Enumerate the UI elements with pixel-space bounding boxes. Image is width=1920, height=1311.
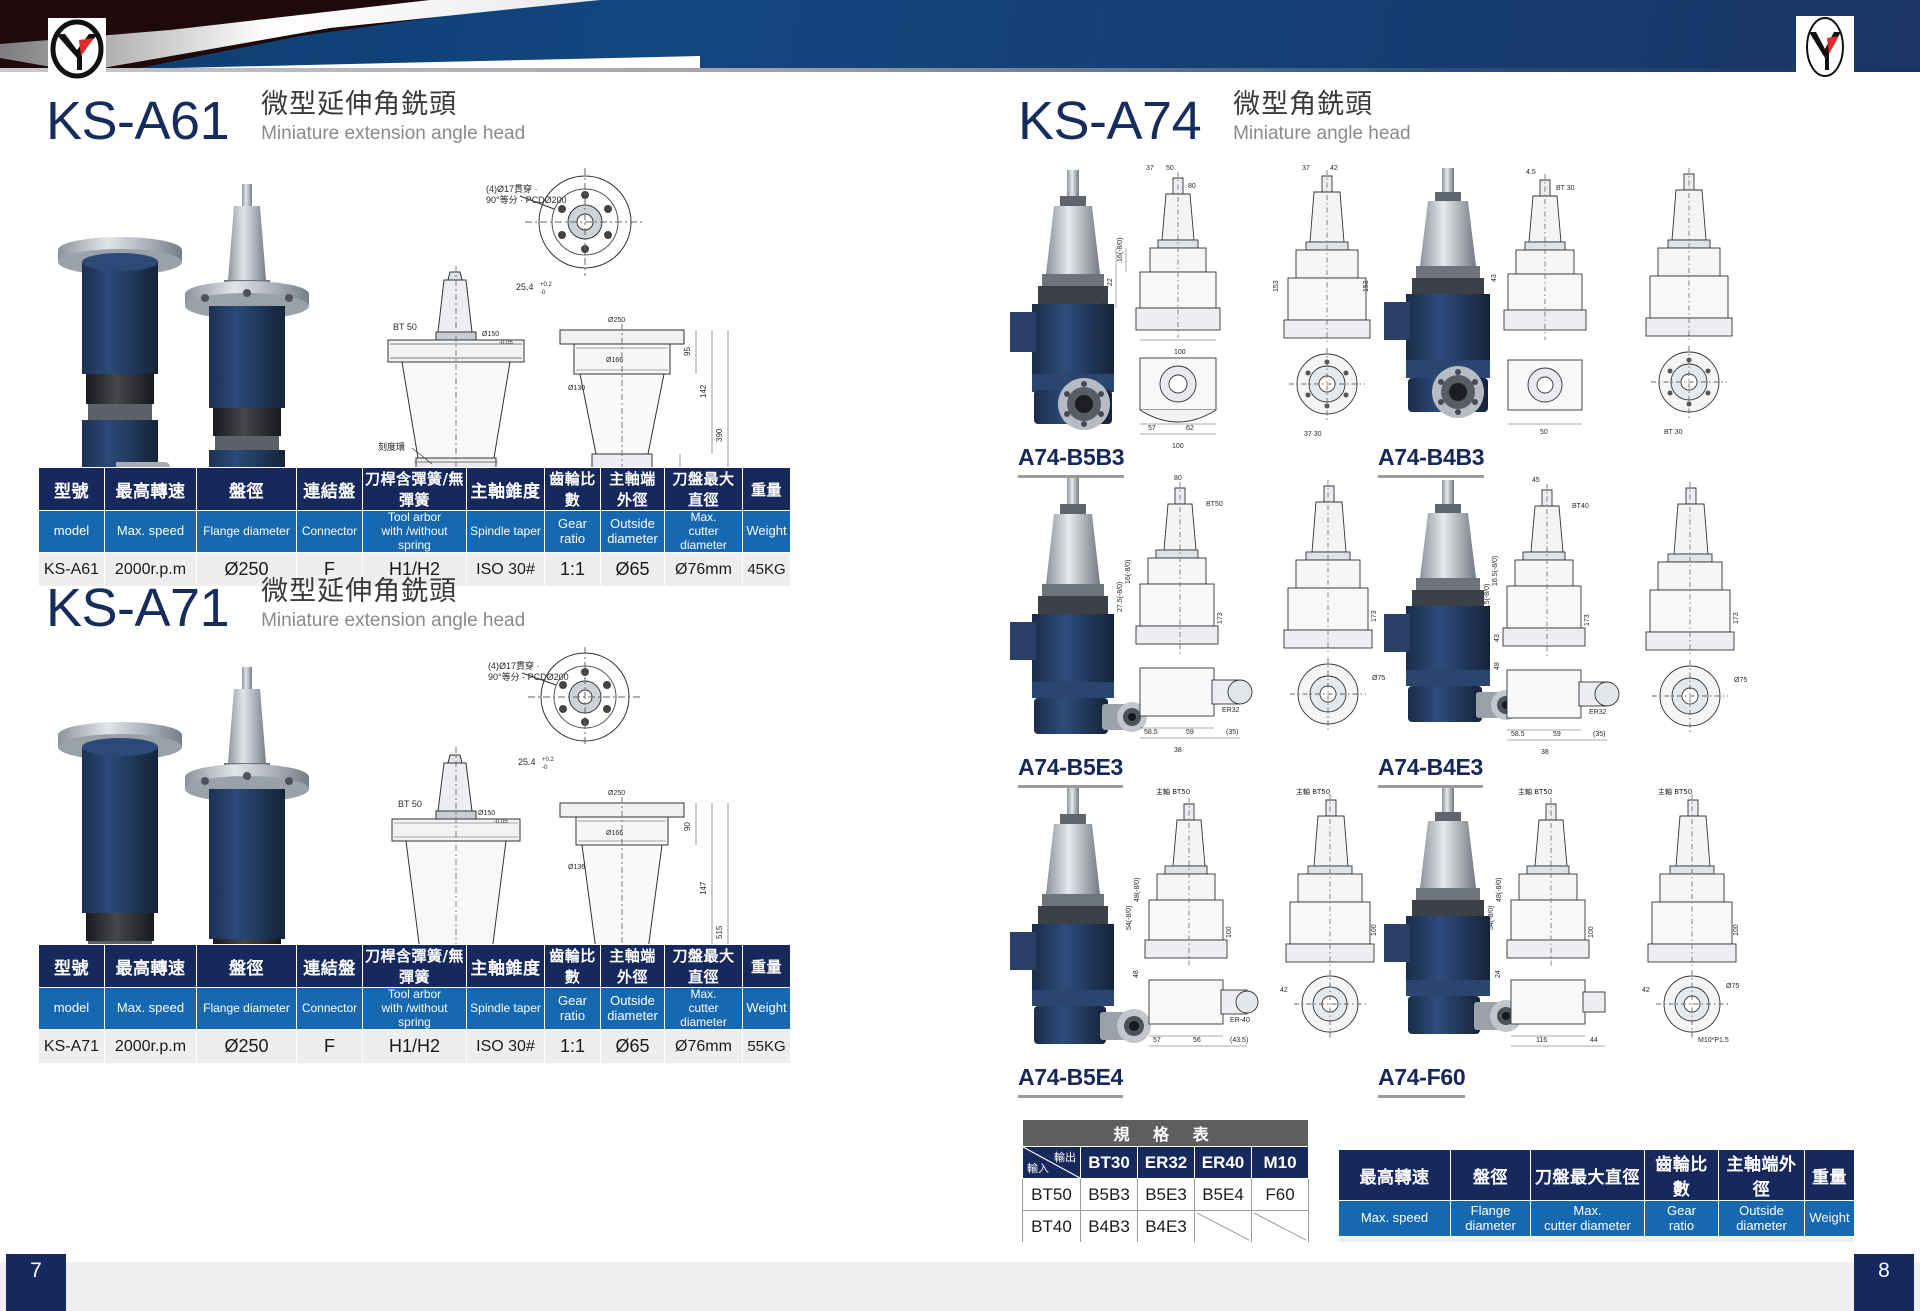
combo-cell-b4e3: B4E3 <box>1138 1211 1195 1243</box>
th-en-flange: Flange diameter <box>197 988 297 1030</box>
td-arbor: H1/H2 <box>363 1030 467 1064</box>
th-en-outside: Outside diameter <box>601 511 665 553</box>
table-header-row-cn: 型號 最高轉速 盤徑 連結盤 刀桿含彈簧/無彈簧 主軸錐度 齒輪比數 主軸端外徑… <box>39 945 791 988</box>
th-cn-model: 型號 <box>39 468 105 511</box>
th-cn-flange: 盤徑 <box>197 468 297 511</box>
combo-cell-b5e4: B5E4 <box>1195 1179 1252 1211</box>
dim-54: 54(-8/0) <box>1126 905 1133 930</box>
drawing-variant-right <box>1646 482 1734 732</box>
dim-d166: Ø166 <box>606 830 623 837</box>
td-connector: F <box>297 1030 363 1064</box>
dim-165: 16.5(-8/0) <box>1492 556 1499 586</box>
dim-585: 58.5 <box>1144 729 1158 736</box>
variant-label-a74-b5e4: A74-B5E4 <box>1018 1064 1123 1098</box>
dim-100b: 100 <box>1733 924 1740 936</box>
dim-475: 47.5 <box>1095 324 1102 338</box>
th-en-taper: Spindle taper <box>467 988 545 1030</box>
th-en-arbor: Tool arbor with /without spring <box>363 988 467 1030</box>
th-cn-model: 型號 <box>39 945 105 988</box>
th-en-weight: Weight <box>1805 1201 1855 1237</box>
dim-54: 54(-8/0) <box>1488 905 1495 930</box>
dim-er32: ER32 <box>1589 709 1607 716</box>
dim-585: 58.5 <box>1511 731 1525 738</box>
note-spindle-bt50: 主軸 BT50 <box>1518 787 1552 796</box>
combo-cell-b4b3: B4B3 <box>1081 1211 1138 1243</box>
product-name-en: Miniature angle head <box>1233 123 1410 146</box>
th-en-maxcut: Max. cutter diameter <box>1531 1201 1645 1237</box>
dim-d250: Ø250 <box>608 790 625 797</box>
combo-col-bt30: BT30 <box>1081 1147 1138 1179</box>
dim-515: 515 <box>715 925 724 939</box>
th-cn-maxcut: 刀盤最大直徑 <box>1531 1150 1645 1201</box>
th-cn-flange: 盤徑 <box>197 945 297 988</box>
dim-254: 25.4 <box>518 757 536 767</box>
th-cn-weight: 重量 <box>1805 1150 1855 1201</box>
dim-d150-tol: -0.05 <box>499 340 513 346</box>
dim-bt30-right: BT 30 <box>1664 429 1683 436</box>
combo-title-row: 規 格 表 <box>1023 1120 1309 1147</box>
th-cn-outside: 主軸端外徑 <box>1719 1150 1805 1201</box>
dim-24: 24 <box>1495 970 1502 978</box>
drawing-variant-right <box>1648 794 1736 1038</box>
dim-142: 142 <box>699 384 708 398</box>
combo-row-input-bt50: BT50 <box>1023 1179 1081 1211</box>
product-title-ks-a74: KS-A74 微型角銑頭 Miniature angle head <box>1018 90 1411 148</box>
th-en-gear: Gear ratio <box>545 988 601 1030</box>
td-gear: 1:1 <box>545 1030 601 1064</box>
th-en-maxcut: Max. cutter diameter <box>665 511 743 553</box>
combo-corner-input: 輸入 <box>1027 1160 1049 1176</box>
product-code: KS-A61 <box>46 94 229 148</box>
dim-hole-note-1: (4)Ø17貫穿 · <box>486 183 538 194</box>
combo-row-bt50: BT50 B5B3 B5E3 B5E4 F60 <box>1023 1179 1309 1211</box>
dim-d150-tol: -0.05 <box>494 819 508 825</box>
product-title-ks-a71: KS-A71 微型延伸角銑頭 Miniature extension angle… <box>46 577 525 635</box>
combo-row-bt40: BT40 B4B3 B4E3 <box>1023 1211 1309 1243</box>
combo-corner-output: 輸出 <box>1054 1149 1076 1165</box>
dim-254: 25.4 <box>516 282 534 292</box>
dim-d166: Ø166 <box>606 357 623 364</box>
th-cn-connector: 連結盤 <box>297 468 363 511</box>
dim-45: 45 <box>1101 302 1108 310</box>
dim-16: 16(-8/0) <box>1125 559 1132 584</box>
dim-d75: Ø75 <box>1726 983 1739 990</box>
variant-illustration-a74-f60: 主軸 BT50 48(-8/0) 54(-8/0) 100 116 44 24 <box>1350 782 1800 1067</box>
dim-50: 50 <box>1166 165 1174 172</box>
photo-variant <box>1384 480 1521 722</box>
dim-90: 90 <box>683 822 692 831</box>
dim-254-tol2: -0 <box>540 290 546 296</box>
dim-254-tol2: -0 <box>542 765 548 771</box>
product-name-cn: 微型角銑頭 <box>1233 90 1410 120</box>
drawing-flange-plan-a61 <box>520 168 645 276</box>
th-en-taper: Spindle taper <box>467 511 545 553</box>
variant-illustration-a74-b4e3: 45 BT40 16.5(-8/0) 27.5(-8/0) 173 58.5 5… <box>1350 472 1800 762</box>
dim-44: 44 <box>1590 1037 1598 1044</box>
dim-42: 42 <box>1642 987 1650 994</box>
th-en-outside: Outside diameter <box>1719 1201 1805 1237</box>
combo-cell-b5e3: B5E3 <box>1138 1179 1195 1211</box>
photo-variant <box>1384 788 1522 1034</box>
photo-variant <box>1010 170 1114 430</box>
dim-173: 173 <box>1217 612 1224 624</box>
th-en-flange: Flange diameter <box>1451 1201 1531 1237</box>
dim-bt50: BT50 <box>1206 501 1223 508</box>
dim-116: 116 <box>1536 1037 1547 1044</box>
dim-57: 57 <box>1148 425 1156 432</box>
dim-er40: ER-40 <box>1230 1017 1250 1024</box>
dim-d150: Ø150 <box>482 331 499 338</box>
th-cn-speed: 最高轉速 <box>105 468 197 511</box>
dim-43: 43 <box>1494 634 1501 642</box>
table-header-row-cn: 型號 最高轉速 盤徑 連結盤 刀桿含彈簧/無彈簧 主軸錐度 齒輪比數 主軸端外徑… <box>39 468 791 511</box>
th-cn-outside: 主軸端外徑 <box>601 945 665 988</box>
th-en-arbor: Tool arbor with /without spring <box>363 511 467 553</box>
note-scale-ring: 刻度環 <box>378 441 405 453</box>
drawing-variant-middle <box>1503 484 1619 740</box>
th-cn-speed: 最高轉速 <box>1339 1150 1451 1201</box>
th-en-maxcut: Max. cutter diameter <box>665 988 743 1030</box>
dim-m10: M10*P1.5 <box>1698 1037 1729 1044</box>
dim-80: 80 <box>1174 475 1182 482</box>
note-spindle-bt50-right: 主軸 BT50 <box>1658 787 1692 796</box>
dim-hole-note-2: 90°等分 · PCDØ200 <box>488 671 569 682</box>
th-cn-weight: 重量 <box>743 468 791 511</box>
dim-275: 27.5(-8/0) <box>1484 584 1491 614</box>
th-cn-gear: 齒輪比數 <box>545 468 601 511</box>
th-cn-connector: 連結盤 <box>297 945 363 988</box>
dim-37-30: 37 30 <box>1304 431 1322 438</box>
page-number-left: 7 <box>6 1254 66 1311</box>
dim-43: 43 <box>1491 274 1498 282</box>
th-cn-maxcut: 刀盤最大直徑 <box>665 468 743 511</box>
combo-col-m10: M10 <box>1252 1147 1309 1179</box>
dim-bt30: BT 30 <box>1556 185 1575 192</box>
dim-hole-note-2: 90°等分 · PCDØ200 <box>486 194 567 205</box>
th-en-connector: Connector <box>297 511 363 553</box>
dim-35: 35 <box>1101 362 1108 370</box>
th-en-outside: Outside diameter <box>601 988 665 1030</box>
dim-57: 57 <box>1153 1037 1161 1044</box>
dim-38: 38 <box>1541 749 1549 756</box>
th-cn-gear: 齒輪比數 <box>1645 1150 1719 1201</box>
th-en-flange: Flange diameter <box>197 511 297 553</box>
combo-title: 規 格 表 <box>1023 1120 1309 1147</box>
th-cn-flange: 盤徑 <box>1451 1150 1531 1201</box>
dim-42: 42 <box>1280 987 1288 994</box>
dim-d75: Ø75 <box>1734 677 1747 684</box>
dim-hole-note-1: (4)Ø17貫穿 · <box>488 660 540 671</box>
th-cn-arbor: 刀桿含彈簧/無彈簧 <box>363 468 467 511</box>
th-cn-weight: 重量 <box>743 945 791 988</box>
combo-header-row: 輸出 輸入 BT30 ER32 ER40 M10 <box>1023 1147 1309 1179</box>
product-name-en: Miniature extension angle head <box>261 123 525 146</box>
th-en-speed: Max. speed <box>105 511 197 553</box>
dim-173b: 173 <box>1733 612 1740 624</box>
dim-d130: Ø130 <box>568 385 585 392</box>
dim-48b: 48 <box>1133 970 1140 978</box>
dim-bt50: BT 50 <box>393 322 417 332</box>
dim-100: 100 <box>1226 926 1233 938</box>
dim-62: 62 <box>1186 425 1194 432</box>
dim-42: 42 <box>1330 165 1338 172</box>
dim-59: 59 <box>1553 731 1561 738</box>
dim-38: 38 <box>1174 747 1182 754</box>
td-speed: 2000r.p.m <box>105 1030 197 1064</box>
page-number-right: 8 <box>1854 1254 1914 1311</box>
dim-22: 22 <box>1107 278 1114 286</box>
dim-37-right: 37 <box>1302 165 1310 172</box>
company-logo-icon <box>48 18 106 80</box>
spec-table-ks-a61: 型號 最高轉速 盤徑 連結盤 刀桿含彈簧/無彈簧 主軸錐度 齒輪比數 主軸端外徑… <box>38 467 791 587</box>
th-en-speed: Max. speed <box>105 988 197 1030</box>
dim-48: 48 <box>1494 662 1501 670</box>
dim-37: 37 <box>1146 165 1154 172</box>
td-gear: 1:1 <box>545 553 601 587</box>
dim-100: 100 <box>1588 926 1595 938</box>
td-outside: Ø65 <box>601 553 665 587</box>
dim-48: 48(-8/0) <box>1134 877 1141 902</box>
catalog-page: KS-A61 微型延伸角銑頭 Miniature extension angle… <box>0 0 1920 1311</box>
dim-80: 80 <box>1188 183 1196 190</box>
dim-d250: Ø250 <box>608 317 625 324</box>
table-header-row-en: Max. speed Flange diameter Max. cutter d… <box>1339 1201 1855 1237</box>
th-en-connector: Connector <box>297 988 363 1030</box>
th-cn-taper: 主軸錐度 <box>467 945 545 988</box>
combo-cell-empty-2 <box>1252 1211 1309 1243</box>
combo-col-er32: ER32 <box>1138 1147 1195 1179</box>
dim-45: 4.5 <box>1526 169 1536 176</box>
dim-390: 390 <box>715 428 724 442</box>
photo-variant <box>1384 168 1490 418</box>
dim-45: 45 <box>1532 477 1540 484</box>
th-cn-taper: 主軸錐度 <box>467 468 545 511</box>
combo-cell-b5b3: B5B3 <box>1081 1179 1138 1211</box>
th-en-model: model <box>39 511 105 553</box>
photo-variant <box>1010 478 1147 734</box>
variant-label-a74-f60: A74-F60 <box>1378 1064 1465 1098</box>
product-name-cn: 微型延伸角銑頭 <box>261 90 525 120</box>
dim-er32: ER32 <box>1222 707 1240 714</box>
dim-56: 56 <box>1193 1037 1201 1044</box>
combo-row-input-bt40: BT40 <box>1023 1211 1081 1243</box>
drawing-variant-middle <box>1504 174 1586 424</box>
dim-48: 48(-8/0) <box>1496 877 1503 902</box>
drawing-flange-plan-a71 <box>522 647 642 747</box>
dim-50: 50 <box>1540 429 1548 436</box>
th-en-model: model <box>39 988 105 1030</box>
drawing-variant-middle <box>1145 798 1258 1046</box>
combo-cell-f60: F60 <box>1252 1179 1309 1211</box>
drawing-variant-right <box>1646 168 1732 418</box>
footer-bar <box>0 1262 1920 1311</box>
td-taper: ISO 30# <box>467 1030 545 1064</box>
td-maxcut: Ø76mm <box>665 1030 743 1064</box>
td-weight: 55KG <box>743 1030 791 1064</box>
dim-d136: Ø136 <box>568 864 585 871</box>
product-code: KS-A74 <box>1018 94 1201 148</box>
table-header-row-en: model Max. speed Flange diameter Connect… <box>39 511 791 553</box>
dim-16: 16(-8/0) <box>1117 237 1124 262</box>
dim-95: 95 <box>683 347 692 356</box>
table-header-row-cn: 最高轉速 盤徑 刀盤最大直徑 齒輪比數 主軸端外徑 重量 <box>1339 1150 1855 1201</box>
combination-table: 規 格 表 輸出 輸入 BT30 ER32 ER40 M10 BT50 B5B3… <box>1022 1119 1309 1243</box>
th-cn-outside: 主軸端外徑 <box>601 468 665 511</box>
left-page: KS-A61 微型延伸角銑頭 Miniature extension angle… <box>0 72 960 1242</box>
footer-white-gap <box>0 1242 1920 1262</box>
th-en-weight: Weight <box>743 511 791 553</box>
drawing-variant-middle <box>1136 482 1252 738</box>
dim-100: 100 <box>1174 349 1186 356</box>
th-cn-speed: 最高轉速 <box>105 945 197 988</box>
th-cn-gear: 齒輪比數 <box>545 945 601 988</box>
td-weight: 45KG <box>743 553 791 587</box>
table-row: KS-A71 2000r.p.m Ø250 F H1/H2 ISO 30# 1:… <box>39 1030 791 1064</box>
th-cn-maxcut: 刀盤最大直徑 <box>665 945 743 988</box>
th-cn-arbor: 刀桿含彈簧/無彈簧 <box>363 945 467 988</box>
th-en-speed: Max. speed <box>1339 1201 1451 1237</box>
dim-435: (43.5) <box>1230 1037 1248 1044</box>
td-model: KS-A71 <box>39 1030 105 1064</box>
spec-table-ks-a71: 型號 最高轉速 盤徑 連結盤 刀桿含彈簧/無彈簧 主軸錐度 齒輪比數 主軸端外徑… <box>38 944 791 1064</box>
dim-275: 27.5(-8/0) <box>1117 582 1124 612</box>
product-code: KS-A71 <box>46 581 229 635</box>
company-logo-icon-right <box>1796 16 1854 78</box>
dim-bt40: BT40 <box>1572 503 1589 510</box>
th-en-weight: Weight <box>743 988 791 1030</box>
td-maxcut: Ø76mm <box>665 553 743 587</box>
note-spindle-bt50: 主軸 BT50 <box>1156 787 1190 796</box>
variant-illustration-a74-b4b3: 4.5 BT 30 43 50 <box>1350 162 1800 452</box>
right-page: KS-A74 微型角銑頭 Miniature angle head <box>960 72 1920 1242</box>
combo-corner-cell: 輸出 輸入 <box>1023 1147 1081 1179</box>
dim-173: 173 <box>1584 614 1591 626</box>
product-title-ks-a61: KS-A61 微型延伸角銑頭 Miniature extension angle… <box>46 90 525 148</box>
th-en-gear: Gear ratio <box>545 511 601 553</box>
dim-147: 147 <box>699 881 708 895</box>
combo-cell-empty-1 <box>1195 1211 1252 1243</box>
note-spindle-bt50-right: 主軸 BT50 <box>1296 787 1330 796</box>
dim-100b: 100 <box>1172 443 1184 450</box>
product-name-cn: 微型延伸角銑頭 <box>261 577 525 607</box>
drawing-variant-middle <box>1116 172 1220 434</box>
combo-col-er40: ER40 <box>1195 1147 1252 1179</box>
dim-254-tol: +0.2 <box>540 282 553 288</box>
td-outside: Ø65 <box>601 1030 665 1064</box>
dim-153: 153 <box>1273 280 1280 292</box>
td-flange: Ø250 <box>197 1030 297 1064</box>
product-name-en: Miniature extension angle head <box>261 610 525 633</box>
dim-254-tol: +0.2 <box>542 757 555 763</box>
dim-bt50: BT 50 <box>398 799 422 809</box>
th-en-gear: Gear ratio <box>1645 1201 1719 1237</box>
table-header-row-en: model Max. speed Flange diameter Connect… <box>39 988 791 1030</box>
dim-35: (35) <box>1593 731 1605 738</box>
page-header-band <box>0 0 1920 72</box>
dim-35: (35) <box>1226 729 1238 736</box>
dim-59: 59 <box>1186 729 1194 736</box>
dim-d150: Ø150 <box>478 810 495 817</box>
drawing-variant-middle <box>1507 798 1605 1046</box>
